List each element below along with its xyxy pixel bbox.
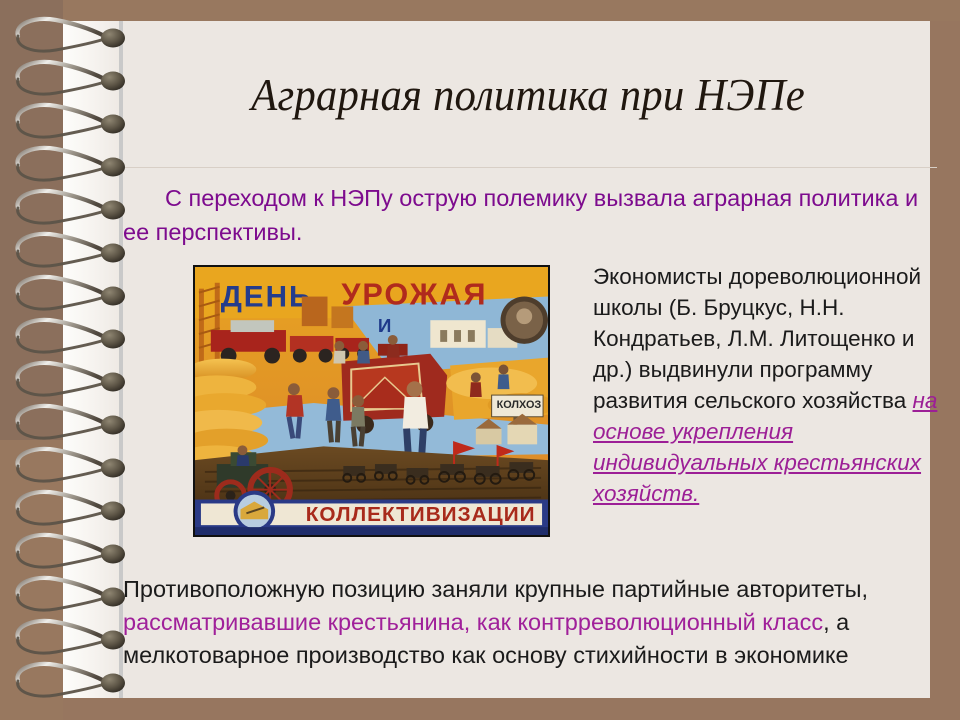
title-divider [125,167,937,168]
slide-content: Аграрная политика при НЭПе С переходом к… [123,21,930,698]
background-left-band-lower [0,440,63,720]
svg-text:КОЛХОЗ: КОЛХОЗ [497,399,542,411]
poster-portrait [501,297,548,344]
bottom-text-magenta: рассматривавшие крестьянина, как контрре… [123,609,823,635]
page-title: Аграрная политика при НЭПе [151,71,904,119]
right-text-plain: Экономисты дореволюционной школы (Б. Бру… [593,264,921,413]
svg-text:КОЛЛЕКТИВИЗАЦИИ: КОЛЛЕКТИВИЗАЦИИ [306,503,536,526]
intro-paragraph: С переходом к НЭПу острую полемику вызва… [123,181,933,249]
right-text-block: Экономисты дореволюционной школы (Б. Бру… [593,261,953,509]
poster-artwork: ДЕНЬ УРОЖАЯ И [195,267,548,535]
background-top-band [63,0,960,21]
page-gutter [63,21,120,698]
svg-text:И: И [378,315,392,336]
poster-frame: ДЕНЬ УРОЖАЯ И [193,265,550,537]
soviet-collectivization-poster: ДЕНЬ УРОЖАЯ И [195,267,548,535]
notebook-page: Аграрная политика при НЭПе С переходом к… [63,21,930,698]
svg-text:ДЕНЬ: ДЕНЬ [221,280,313,313]
slide-root: Аграрная политика при НЭПе С переходом к… [0,0,960,720]
background-left-band [0,0,63,440]
bottom-text-part1: Противоположную позицию заняли крупные п… [123,576,868,602]
bottom-text-block: Противоположную позицию заняли крупные п… [123,573,943,672]
svg-text:УРОЖАЯ: УРОЖАЯ [341,277,487,311]
